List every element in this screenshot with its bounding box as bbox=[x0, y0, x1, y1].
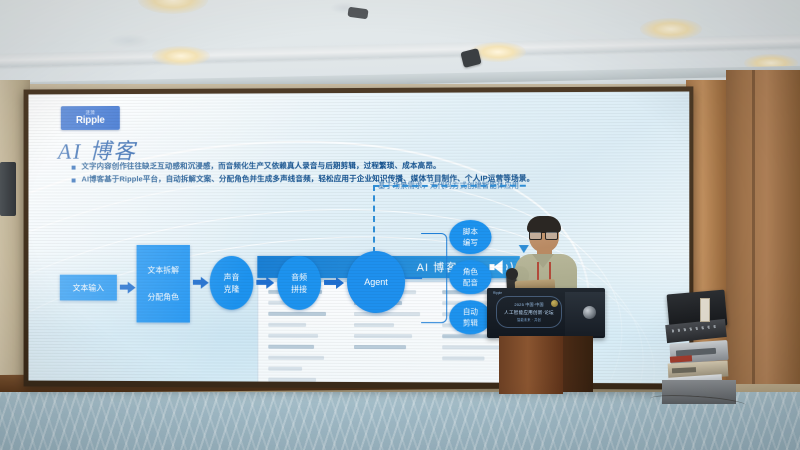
bullet-text: 文字内容创作往往缺乏互动感和沉浸感，而音频化生产又依赖真人录音与后期剪辑，过程繁… bbox=[81, 161, 440, 172]
flow-arrow-icon bbox=[324, 278, 344, 287]
bullet-marker-icon bbox=[72, 179, 76, 183]
node-label: 音频 bbox=[291, 271, 307, 282]
node-label: 拼接 bbox=[291, 283, 307, 294]
node-label: 克隆 bbox=[224, 283, 240, 294]
wall-socket bbox=[700, 298, 710, 322]
flow-node-audio-concat: 音频 拼接 bbox=[277, 256, 321, 310]
node-label: 剪辑 bbox=[463, 317, 478, 328]
wall-speaker-icon bbox=[0, 162, 16, 216]
podium-emblem bbox=[551, 300, 558, 307]
podium-base-side bbox=[563, 336, 593, 392]
conference-room-scene: 涟漪 Ripple AI 博客 文字内容创作往往缺乏互动感和沉浸感，而音频化生产… bbox=[0, 0, 800, 450]
node-label: 声音 bbox=[224, 271, 240, 282]
flow-arrow-icon bbox=[256, 278, 274, 287]
flow-arrow-icon bbox=[120, 283, 136, 292]
right-wood-panel bbox=[726, 70, 800, 420]
dashed-connector bbox=[373, 185, 526, 253]
recessed-light bbox=[108, 34, 150, 48]
bracket-stem bbox=[405, 277, 422, 279]
logo-en-text: Ripple bbox=[76, 115, 105, 126]
flow-node-text-input: 文本输入 bbox=[60, 275, 117, 301]
flow-node-script-writing: 脚本 编写 bbox=[449, 220, 491, 254]
downlight-icon bbox=[640, 18, 702, 40]
flow-node-character-dubbing: 角色 配音 bbox=[449, 260, 491, 294]
podium: Ripple 2025 中国·中国 人工智能应用创新·论坛 智能未来 · 共创 bbox=[487, 288, 605, 400]
podium-sign-line-1: 2025 中国·中国 bbox=[514, 302, 543, 308]
podium-sign-line-2: 人工智能应用创新·论坛 bbox=[504, 310, 554, 316]
ripple-logo: 涟漪 Ripple bbox=[61, 106, 120, 130]
microphone-capsule bbox=[506, 268, 518, 280]
podium-base bbox=[499, 336, 563, 394]
node-label: 文本输入 bbox=[73, 282, 104, 293]
downlight-icon bbox=[138, 0, 208, 14]
downlight-icon bbox=[152, 46, 210, 66]
glasses-icon bbox=[529, 230, 558, 237]
node-label: 自动 bbox=[463, 306, 478, 317]
podium-brand: Ripple bbox=[493, 291, 502, 295]
ceiling-speaker-icon bbox=[460, 48, 481, 68]
node-label: 编写 bbox=[463, 237, 478, 248]
node-label: Agent bbox=[364, 277, 388, 288]
node-label: 脚本 bbox=[463, 226, 478, 237]
podium-sign-line-3: 智能未来 · 共创 bbox=[517, 317, 541, 322]
node-label: 角色 bbox=[463, 266, 478, 277]
flow-node-auto-editing: 自动 剪辑 bbox=[449, 300, 491, 334]
bullet-marker-icon bbox=[72, 166, 76, 170]
ceiling bbox=[0, 0, 800, 92]
flow-node-voice-clone: 声音 克隆 bbox=[210, 256, 254, 310]
node-label: 分配角色 bbox=[147, 292, 179, 303]
podium-knob bbox=[583, 306, 596, 319]
node-label: 文本拆解 bbox=[147, 265, 179, 276]
flow-node-text-split: 文本拆解 分配角色 bbox=[137, 245, 190, 323]
list-item: 文字内容创作往往缺乏互动感和沉浸感，而音频化生产又依赖真人录音与后期剪辑，过程繁… bbox=[72, 160, 690, 171]
ceiling-speaker-icon bbox=[347, 7, 368, 20]
branch-bracket bbox=[421, 233, 447, 323]
flow-arrow-icon bbox=[193, 278, 209, 287]
flow-node-agent: Agent bbox=[347, 251, 405, 313]
node-label: 配音 bbox=[463, 277, 478, 288]
